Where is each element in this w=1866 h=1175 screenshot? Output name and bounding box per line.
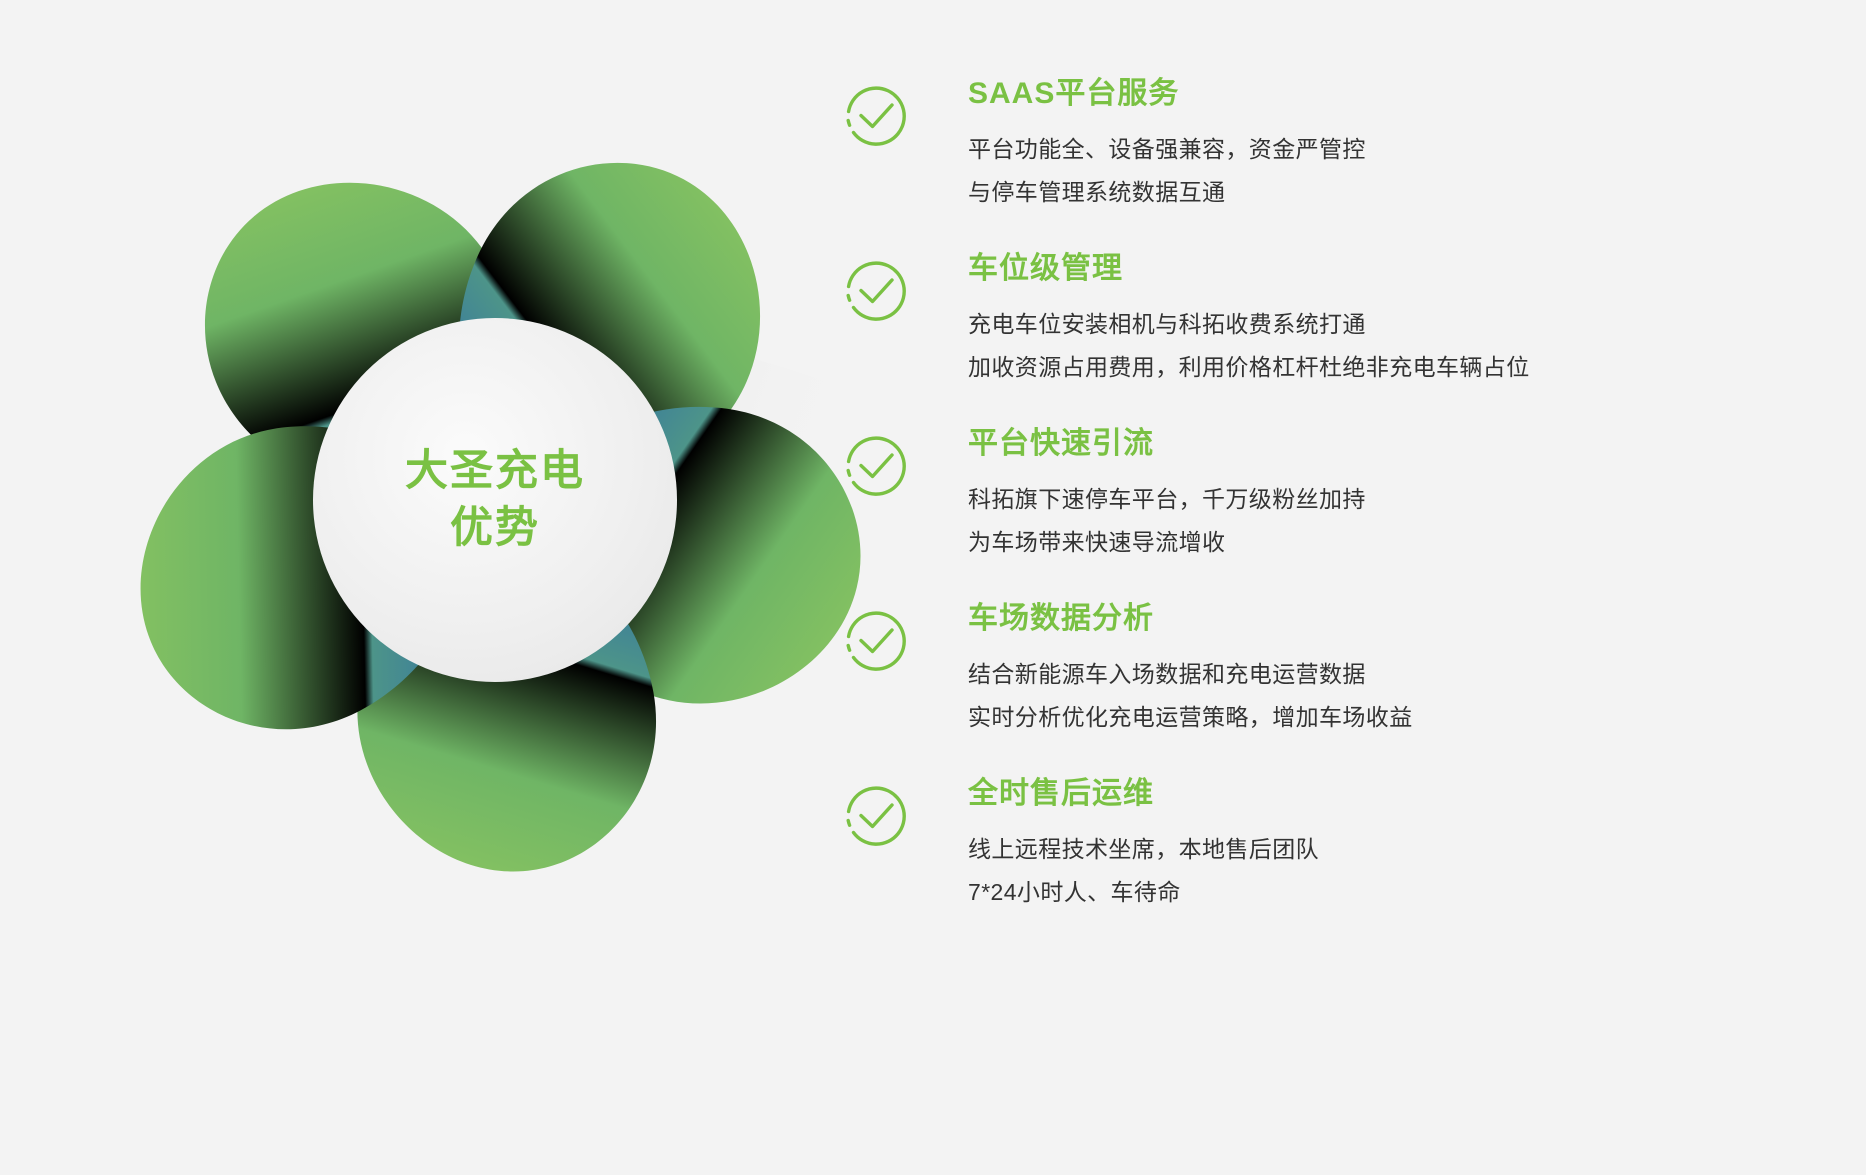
feature-desc-line: 加收资源占用费用，利用价格杠杆杜绝非充电车辆占位 [968,346,1840,389]
brand-logo: 大圣充电 优势 [150,155,840,845]
feature-desc-line: 平台功能全、设备强兼容，资金严管控 [968,128,1840,171]
feature-desc-line: 科拓旗下速停车平台，千万级粉丝加持 [968,478,1840,521]
feature-desc-line: 充电车位安装相机与科拓收费系统打通 [968,303,1840,346]
feature-title: 车场数据分析 [968,601,1840,637]
feature-desc-line: 为车场带来快速导流增收 [968,521,1840,564]
check-circle-icon [840,605,912,677]
feature-item-saas-platform: SAAS平台服务 平台功能全、设备强兼容，资金严管控 与停车管理系统数据互通 [840,76,1840,226]
check-circle-icon [840,80,912,152]
check-circle-icon [840,255,912,327]
feature-desc-line: 线上远程技术坐席，本地售后团队 [968,828,1840,871]
feature-item-parking-data-analysis: 车场数据分析 结合新能源车入场数据和充电运营数据 实时分析优化充电运营策略，增加… [840,601,1840,751]
check-circle-icon [840,780,912,852]
check-circle-icon [840,430,912,502]
feature-desc-line: 实时分析优化充电运营策略，增加车场收益 [968,696,1840,739]
feature-list: SAAS平台服务 平台功能全、设备强兼容，资金严管控 与停车管理系统数据互通 车… [840,76,1840,926]
feature-desc-line: 7*24小时人、车待命 [968,871,1840,914]
feature-title: 车位级管理 [968,251,1840,287]
feature-desc-line: 结合新能源车入场数据和充电运营数据 [968,653,1840,696]
feature-title: 平台快速引流 [968,426,1840,462]
feature-title: SAAS平台服务 [968,76,1840,112]
feature-desc-line: 与停车管理系统数据互通 [968,171,1840,214]
logo-inner-disc [313,318,677,682]
feature-title: 全时售后运维 [968,776,1840,812]
pinwheel-graphic [150,155,840,845]
infographic-page: 大圣充电 优势 SAAS平台服务 平台功能全、设备强兼容，资金严管控 与停车管理… [0,0,1866,1175]
feature-item-platform-traffic: 平台快速引流 科拓旗下速停车平台，千万级粉丝加持 为车场带来快速导流增收 [840,426,1840,576]
feature-item-parking-space-management: 车位级管理 充电车位安装相机与科拓收费系统打通 加收资源占用费用，利用价格杠杆杜… [840,251,1840,401]
feature-item-after-sales-support: 全时售后运维 线上远程技术坐席，本地售后团队 7*24小时人、车待命 [840,776,1840,926]
